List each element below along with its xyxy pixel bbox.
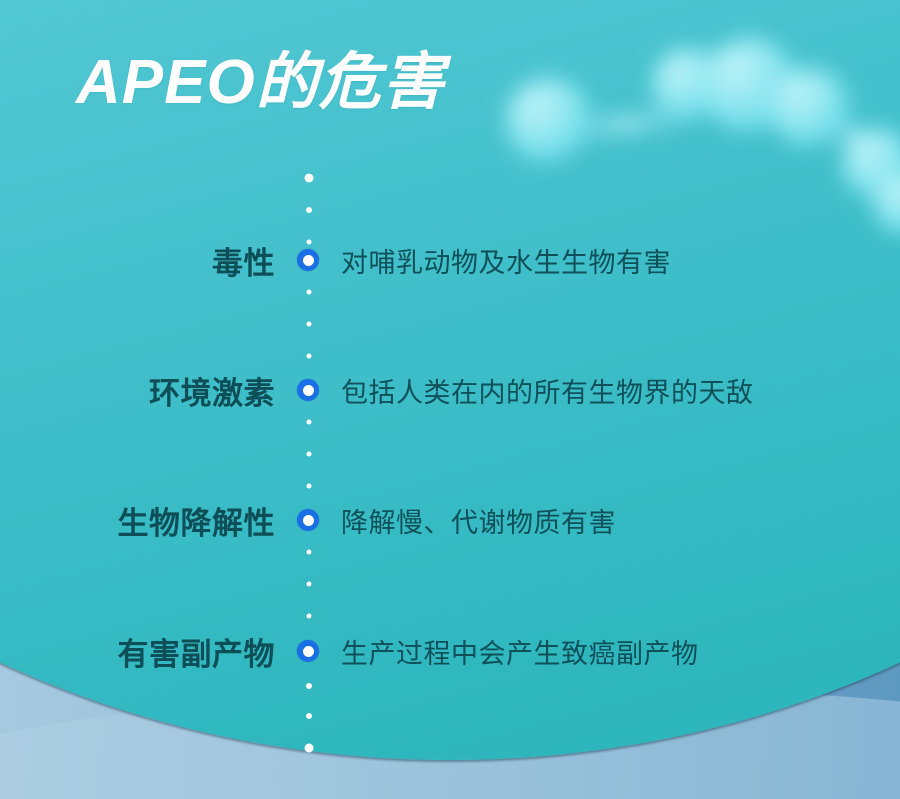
hazard-description: 包括人类在内的所有生物界的天敌 <box>341 371 754 410</box>
hazard-label: 环境激素 <box>0 368 275 413</box>
poster-root: APEO的危害 毒性对哺乳动物及水生生物有害环境激素包括人类在内的所有生物界的天… <box>0 0 900 799</box>
timeline-dot <box>305 744 314 753</box>
timeline-dot <box>307 452 312 457</box>
timeline-dot <box>306 207 312 213</box>
timeline-marker-core-icon <box>303 255 314 266</box>
hazard-row: 生物降解性降解慢、代谢物质有害 <box>0 498 900 542</box>
timeline-dot <box>306 713 312 719</box>
timeline-marker-cell <box>275 249 341 271</box>
timeline-dot <box>305 174 314 183</box>
timeline-dot <box>307 354 312 359</box>
timeline-marker-core-icon <box>303 646 314 657</box>
timeline-dot <box>307 614 312 619</box>
timeline-dot <box>307 550 312 555</box>
hazard-row: 毒性对哺乳动物及水生生物有害 <box>0 238 900 282</box>
timeline-marker-cell <box>275 509 341 531</box>
hazard-label: 生物降解性 <box>0 498 275 543</box>
hazard-label: 毒性 <box>0 238 275 283</box>
timeline-marker-cell <box>275 379 341 401</box>
timeline-marker-cell <box>275 640 341 662</box>
hazard-row: 有害副产物生产过程中会产生致癌副产物 <box>0 629 900 673</box>
page-title: APEO的危害 <box>76 52 445 114</box>
hazard-row: 环境激素包括人类在内的所有生物界的天敌 <box>0 368 900 412</box>
timeline-dot <box>307 322 312 327</box>
hazard-description: 生产过程中会产生致癌副产物 <box>341 632 699 671</box>
timeline-dot <box>306 683 312 689</box>
timeline-dot <box>307 582 312 587</box>
timeline-marker-icon <box>297 249 319 271</box>
hazard-description: 对哺乳动物及水生生物有害 <box>341 241 671 280</box>
timeline-dot <box>307 484 312 489</box>
timeline-dot <box>307 420 312 425</box>
timeline-marker-icon <box>297 379 319 401</box>
timeline-marker-icon <box>297 640 319 662</box>
timeline-marker-icon <box>297 509 319 531</box>
timeline-marker-core-icon <box>303 515 314 526</box>
hazard-label: 有害副产物 <box>0 629 275 674</box>
timeline-dot <box>307 290 312 295</box>
hazard-description: 降解慢、代谢物质有害 <box>341 501 616 540</box>
timeline-marker-core-icon <box>303 385 314 396</box>
